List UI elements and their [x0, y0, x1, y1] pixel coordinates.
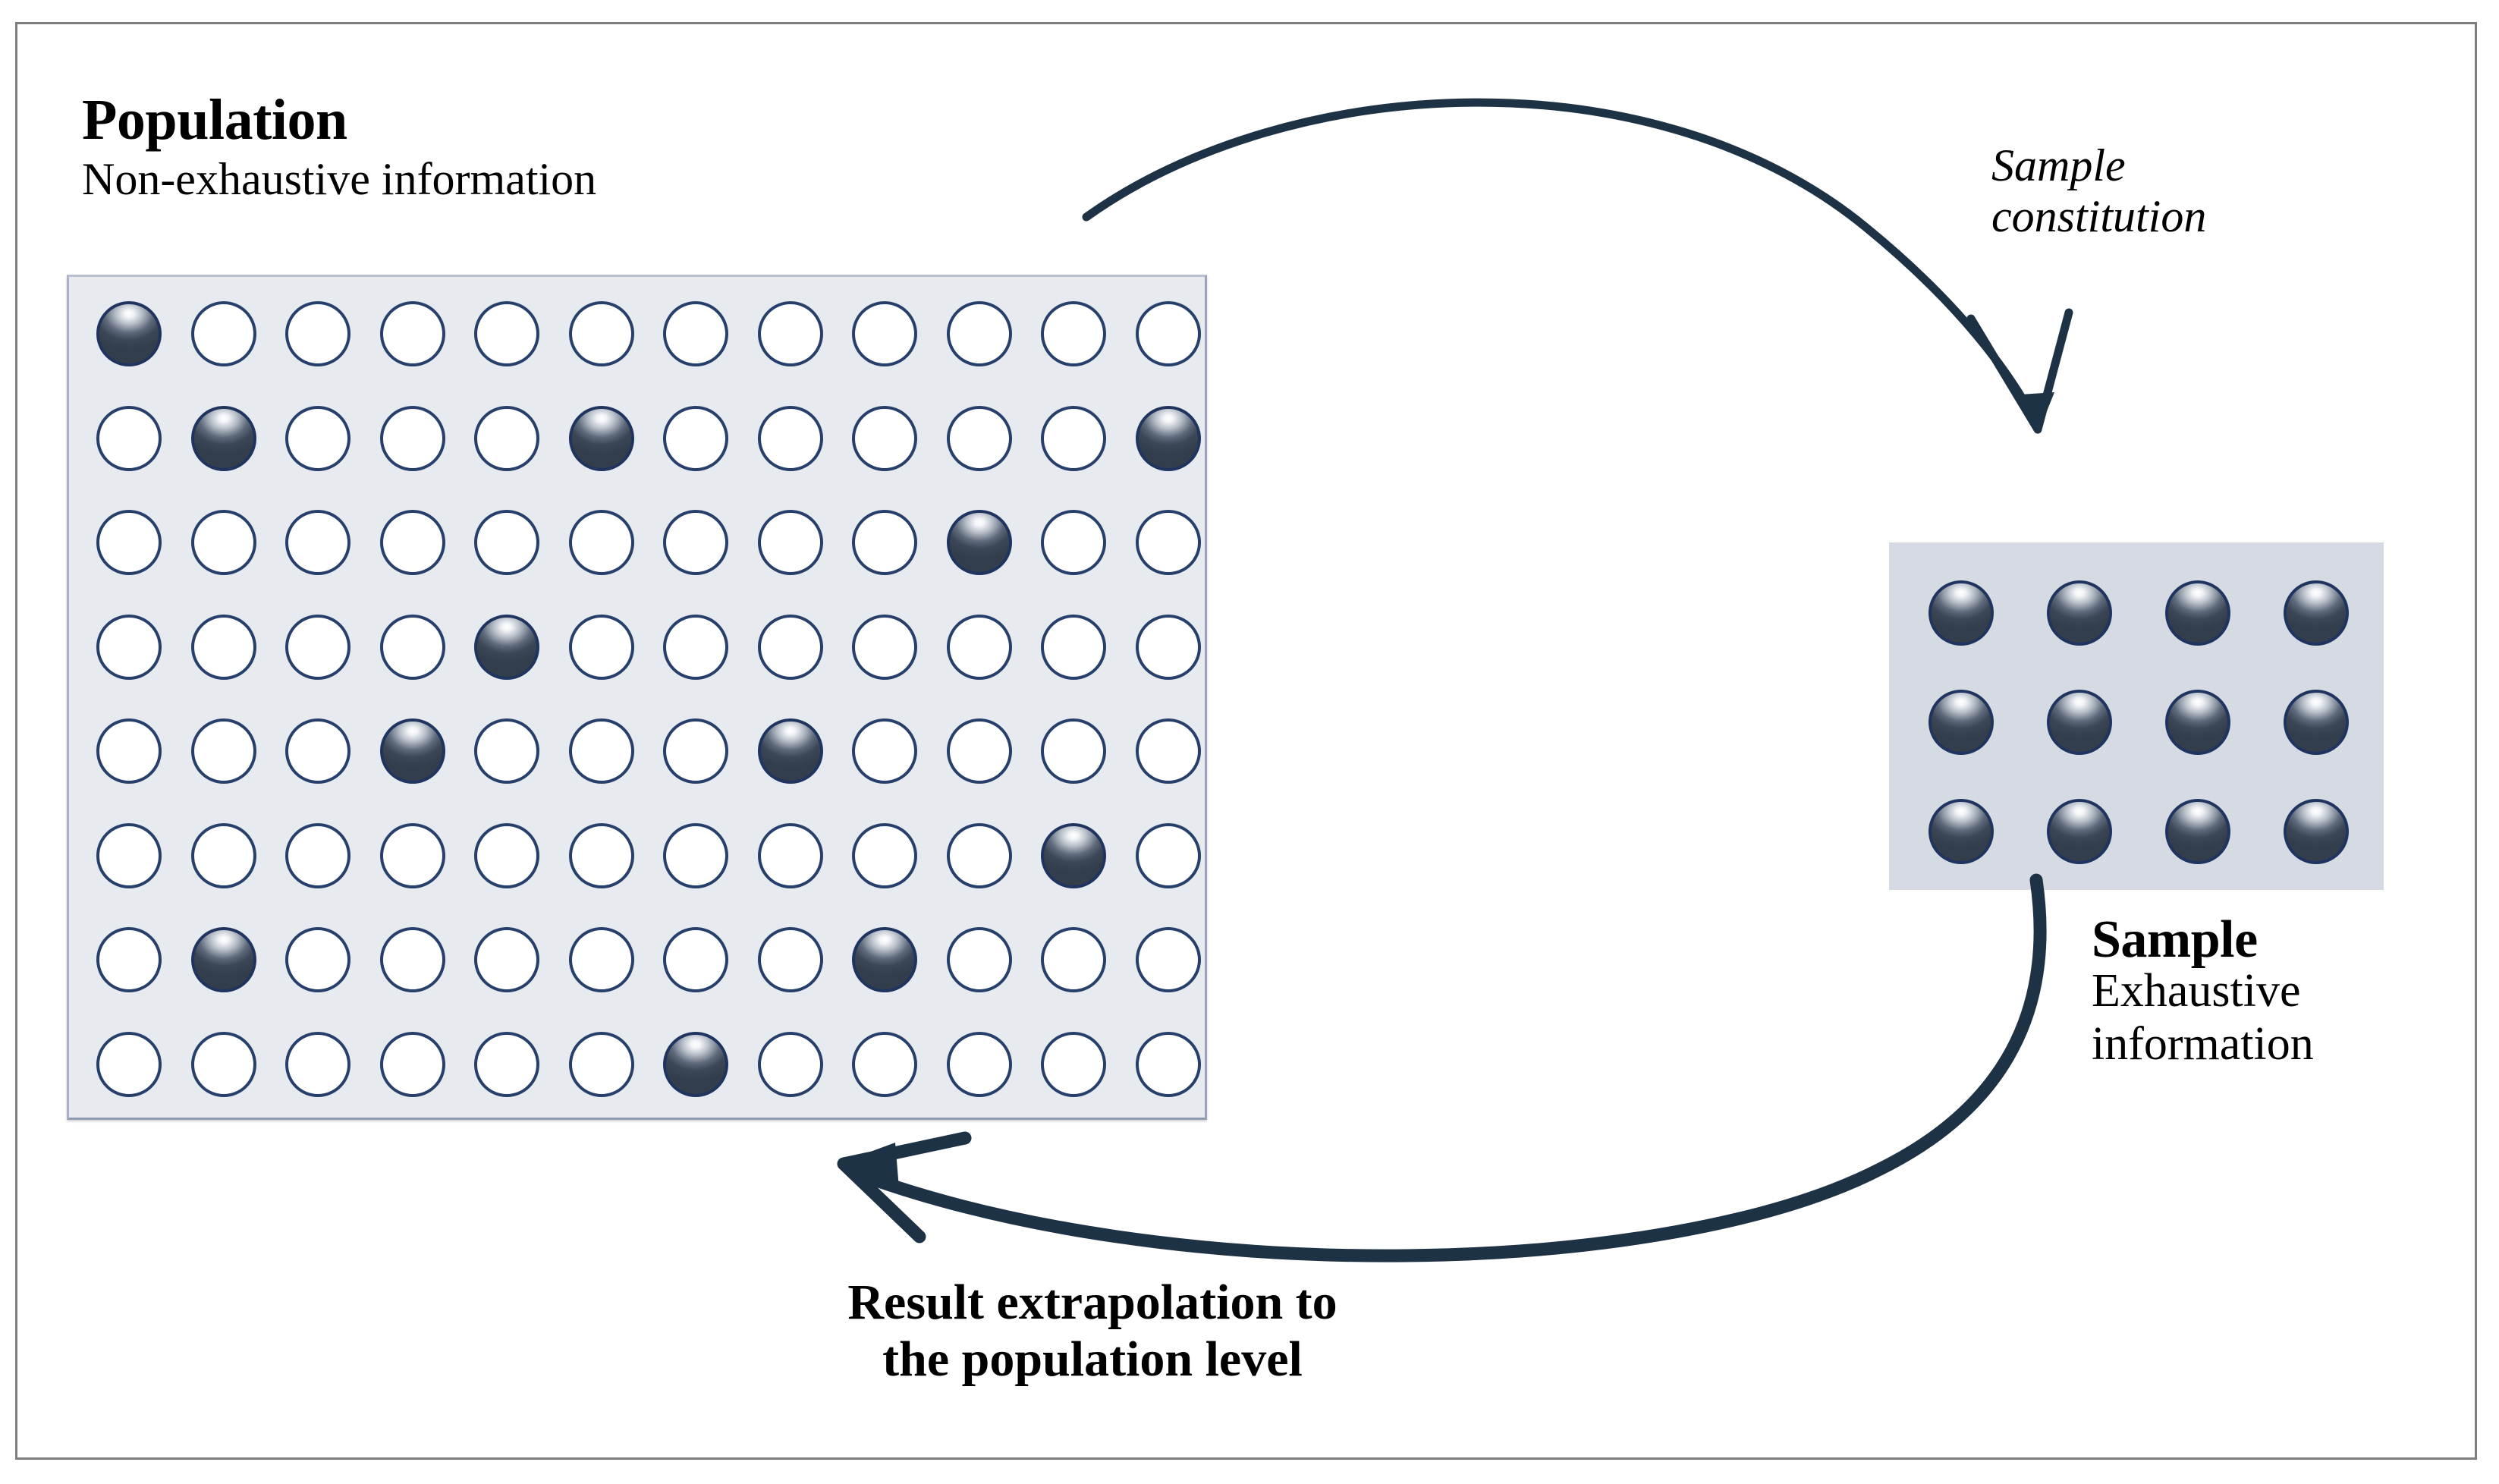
- population-token-selected: [1041, 823, 1106, 888]
- sample-token-grid: [1889, 542, 2384, 890]
- population-token-unselected: [285, 718, 350, 784]
- sample-subtitle-line2: information: [2092, 1020, 2486, 1069]
- sample-token-selected: [2047, 799, 2112, 864]
- population-token-unselected: [852, 301, 917, 366]
- population-token-unselected: [569, 615, 634, 680]
- population-token-unselected: [947, 823, 1012, 888]
- population-token-unselected: [380, 823, 445, 888]
- sample-title: Sample: [2092, 913, 2486, 967]
- population-token-unselected: [474, 718, 539, 784]
- population-token-unselected: [758, 823, 823, 888]
- population-token-unselected: [96, 927, 162, 992]
- population-token-unselected: [852, 718, 917, 784]
- sample-constitution-label: Sample constitution: [1991, 140, 2356, 242]
- population-token-unselected: [285, 510, 350, 575]
- population-token-unselected: [663, 301, 728, 366]
- population-token-unselected: [96, 510, 162, 575]
- diagram-canvas: Population Non-exhaustive information Sa…: [0, 0, 2499, 1484]
- population-token-selected: [569, 406, 634, 471]
- sample-token-selected: [1928, 690, 1994, 755]
- population-token-unselected: [947, 718, 1012, 784]
- population-box: [67, 275, 1207, 1120]
- sample-constitution-line2: constitution: [1991, 191, 2356, 242]
- population-token-unselected: [96, 718, 162, 784]
- population-token-unselected: [947, 1032, 1012, 1097]
- population-token-unselected: [96, 615, 162, 680]
- result-extrapolation-label: Result extrapolation to the population l…: [668, 1275, 1517, 1388]
- population-token-unselected: [285, 1032, 350, 1097]
- population-token-unselected: [191, 718, 256, 784]
- population-token-unselected: [1136, 301, 1201, 366]
- population-label-block: Population Non-exhaustive information: [82, 91, 596, 202]
- sample-token-selected: [1928, 580, 1994, 646]
- population-token-unselected: [285, 301, 350, 366]
- population-token-unselected: [1136, 823, 1201, 888]
- population-token-unselected: [569, 718, 634, 784]
- population-token-unselected: [852, 1032, 917, 1097]
- population-token-unselected: [96, 1032, 162, 1097]
- population-token-unselected: [758, 406, 823, 471]
- population-token-selected: [191, 406, 256, 471]
- sample-token-selected: [2165, 690, 2230, 755]
- population-token-unselected: [947, 406, 1012, 471]
- population-token-unselected: [96, 823, 162, 888]
- sample-token-selected: [2047, 690, 2112, 755]
- sample-token-selected: [2284, 690, 2349, 755]
- population-token-unselected: [758, 510, 823, 575]
- population-token-selected: [758, 718, 823, 784]
- sample-subtitle-line1: Exhaustive: [2092, 967, 2486, 1016]
- population-token-unselected: [1041, 406, 1106, 471]
- population-token-selected: [852, 927, 917, 992]
- population-token-unselected: [1041, 1032, 1106, 1097]
- population-title: Population: [82, 91, 596, 149]
- sample-token-selected: [2165, 799, 2230, 864]
- population-token-unselected: [380, 406, 445, 471]
- population-token-unselected: [1041, 927, 1106, 992]
- population-token-unselected: [758, 615, 823, 680]
- population-token-unselected: [191, 823, 256, 888]
- result-extrapolation-line2: the population level: [668, 1332, 1517, 1388]
- population-token-unselected: [852, 510, 917, 575]
- population-token-unselected: [380, 510, 445, 575]
- population-token-unselected: [1041, 510, 1106, 575]
- population-token-unselected: [474, 823, 539, 888]
- population-token-unselected: [947, 927, 1012, 992]
- sample-token-selected: [1928, 799, 1994, 864]
- population-token-unselected: [852, 615, 917, 680]
- population-token-unselected: [758, 301, 823, 366]
- population-token-unselected: [474, 1032, 539, 1097]
- population-token-unselected: [191, 510, 256, 575]
- population-token-unselected: [663, 718, 728, 784]
- population-token-unselected: [1136, 615, 1201, 680]
- population-token-unselected: [1136, 927, 1201, 992]
- population-token-selected: [96, 301, 162, 366]
- population-token-selected: [474, 615, 539, 680]
- population-token-unselected: [1041, 718, 1106, 784]
- population-token-unselected: [852, 406, 917, 471]
- population-token-unselected: [947, 615, 1012, 680]
- population-token-unselected: [474, 406, 539, 471]
- population-token-unselected: [474, 927, 539, 992]
- population-token-unselected: [1041, 301, 1106, 366]
- sample-token-selected: [2284, 580, 2349, 646]
- population-token-unselected: [1041, 615, 1106, 680]
- population-token-unselected: [191, 615, 256, 680]
- population-token-unselected: [191, 301, 256, 366]
- sample-token-selected: [2047, 580, 2112, 646]
- population-token-selected: [191, 927, 256, 992]
- population-token-unselected: [285, 927, 350, 992]
- population-token-unselected: [569, 301, 634, 366]
- population-token-unselected: [758, 1032, 823, 1097]
- population-token-unselected: [1136, 1032, 1201, 1097]
- population-subtitle: Non-exhaustive information: [82, 156, 596, 202]
- population-token-unselected: [285, 406, 350, 471]
- population-token-unselected: [663, 406, 728, 471]
- sample-constitution-line1: Sample: [1991, 140, 2356, 191]
- population-token-unselected: [1136, 510, 1201, 575]
- population-token-unselected: [758, 927, 823, 992]
- population-token-unselected: [569, 927, 634, 992]
- sample-box: [1889, 542, 2384, 890]
- result-extrapolation-line1: Result extrapolation to: [668, 1275, 1517, 1332]
- population-token-unselected: [380, 301, 445, 366]
- population-token-unselected: [663, 927, 728, 992]
- population-token-unselected: [852, 823, 917, 888]
- population-token-unselected: [285, 615, 350, 680]
- population-token-unselected: [569, 1032, 634, 1097]
- population-token-selected: [663, 1032, 728, 1097]
- sample-token-selected: [2284, 799, 2349, 864]
- population-token-unselected: [569, 823, 634, 888]
- population-token-unselected: [663, 615, 728, 680]
- population-token-unselected: [474, 301, 539, 366]
- sample-token-selected: [2165, 580, 2230, 646]
- sample-label-block: Sample Exhaustive information: [2092, 913, 2486, 1069]
- population-token-selected: [380, 718, 445, 784]
- population-token-selected: [947, 510, 1012, 575]
- population-token-grid: [69, 277, 1205, 1118]
- population-token-unselected: [380, 927, 445, 992]
- population-token-unselected: [663, 510, 728, 575]
- population-token-unselected: [380, 615, 445, 680]
- population-token-unselected: [285, 823, 350, 888]
- population-token-unselected: [191, 1032, 256, 1097]
- population-token-unselected: [380, 1032, 445, 1097]
- population-token-selected: [1136, 406, 1201, 471]
- population-token-unselected: [663, 823, 728, 888]
- population-token-unselected: [474, 510, 539, 575]
- population-token-unselected: [96, 406, 162, 471]
- population-token-unselected: [569, 510, 634, 575]
- population-token-unselected: [947, 301, 1012, 366]
- population-token-unselected: [1136, 718, 1201, 784]
